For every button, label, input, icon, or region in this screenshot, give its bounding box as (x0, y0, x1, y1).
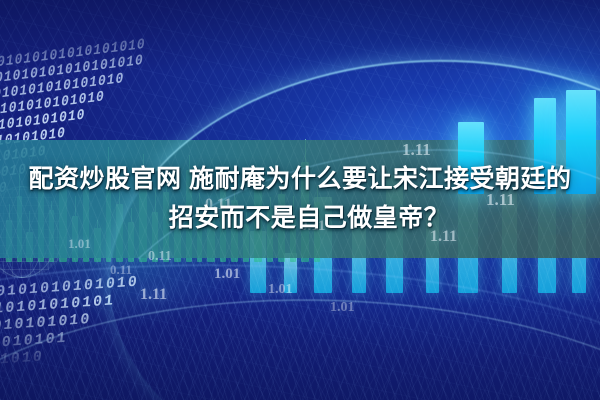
banner-image: 0101010101010101010 0101010101010101010 … (0, 0, 600, 400)
vignette (0, 0, 600, 400)
